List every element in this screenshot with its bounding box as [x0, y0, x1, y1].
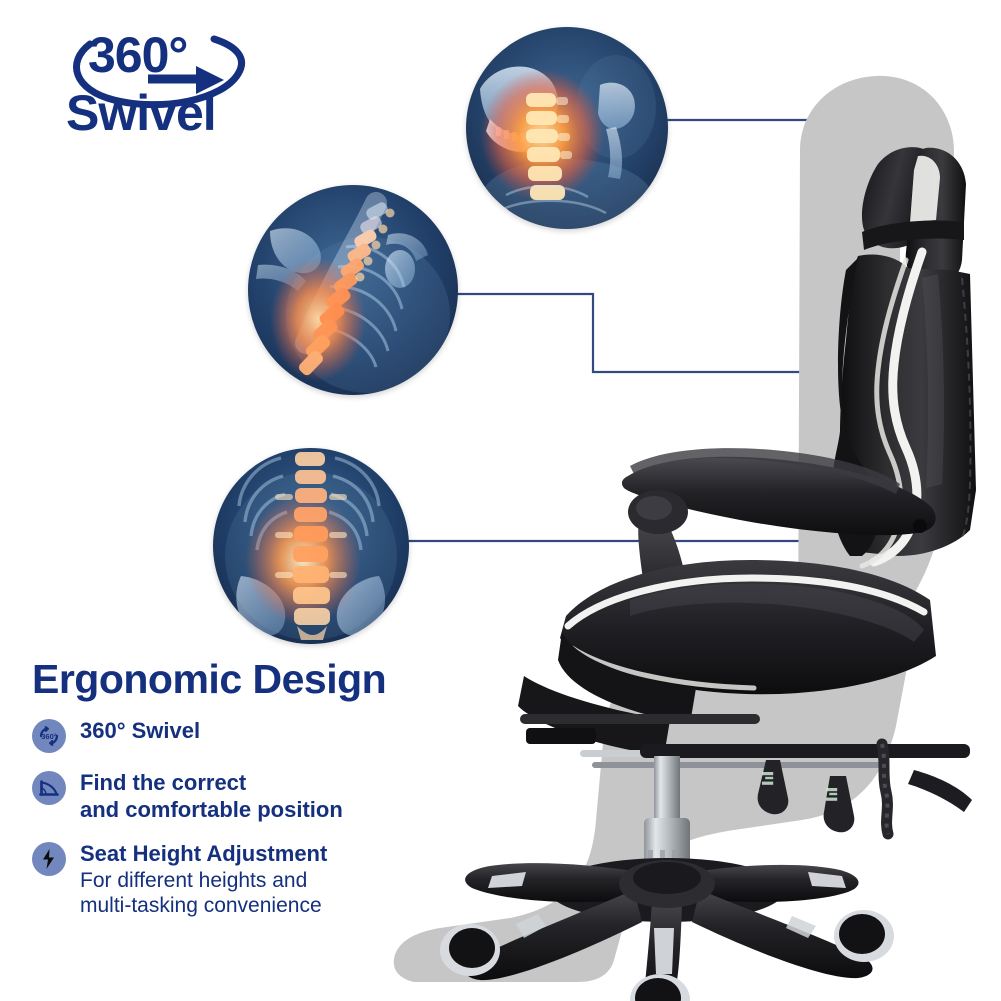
recline-angle-icon [32, 771, 66, 805]
swivel-word-label: Swivel [66, 88, 216, 138]
caster-front-center [630, 974, 690, 1001]
feature-item-recline: Find the correct and comfortable positio… [32, 769, 432, 824]
swivel-badge: 360° Swivel [52, 22, 262, 147]
features-section: Ergonomic Design 360° 360° Swivel [32, 658, 432, 935]
feature-item-height: Seat Height Adjustment For different hei… [32, 840, 432, 919]
features-heading: Ergonomic Design [32, 658, 432, 701]
feature-title: 360° Swivel [80, 718, 200, 745]
caster-back-right [834, 910, 894, 962]
feature-title: Seat Height Adjustment [80, 841, 327, 868]
feature-item-swivel: 360° 360° Swivel [32, 717, 432, 753]
height-adjust-icon [32, 842, 66, 876]
caster-back-left [440, 924, 500, 976]
product-infographic-poster: 360° Swivel [0, 0, 1001, 1001]
feature-subtitle: For different heights and multi-tasking … [80, 868, 327, 919]
swivel-degrees-label: 360° [88, 30, 187, 80]
svg-text:360°: 360° [41, 732, 57, 741]
swivel-360-icon: 360° [32, 719, 66, 753]
feature-title: Find the correct and comfortable positio… [80, 770, 343, 824]
